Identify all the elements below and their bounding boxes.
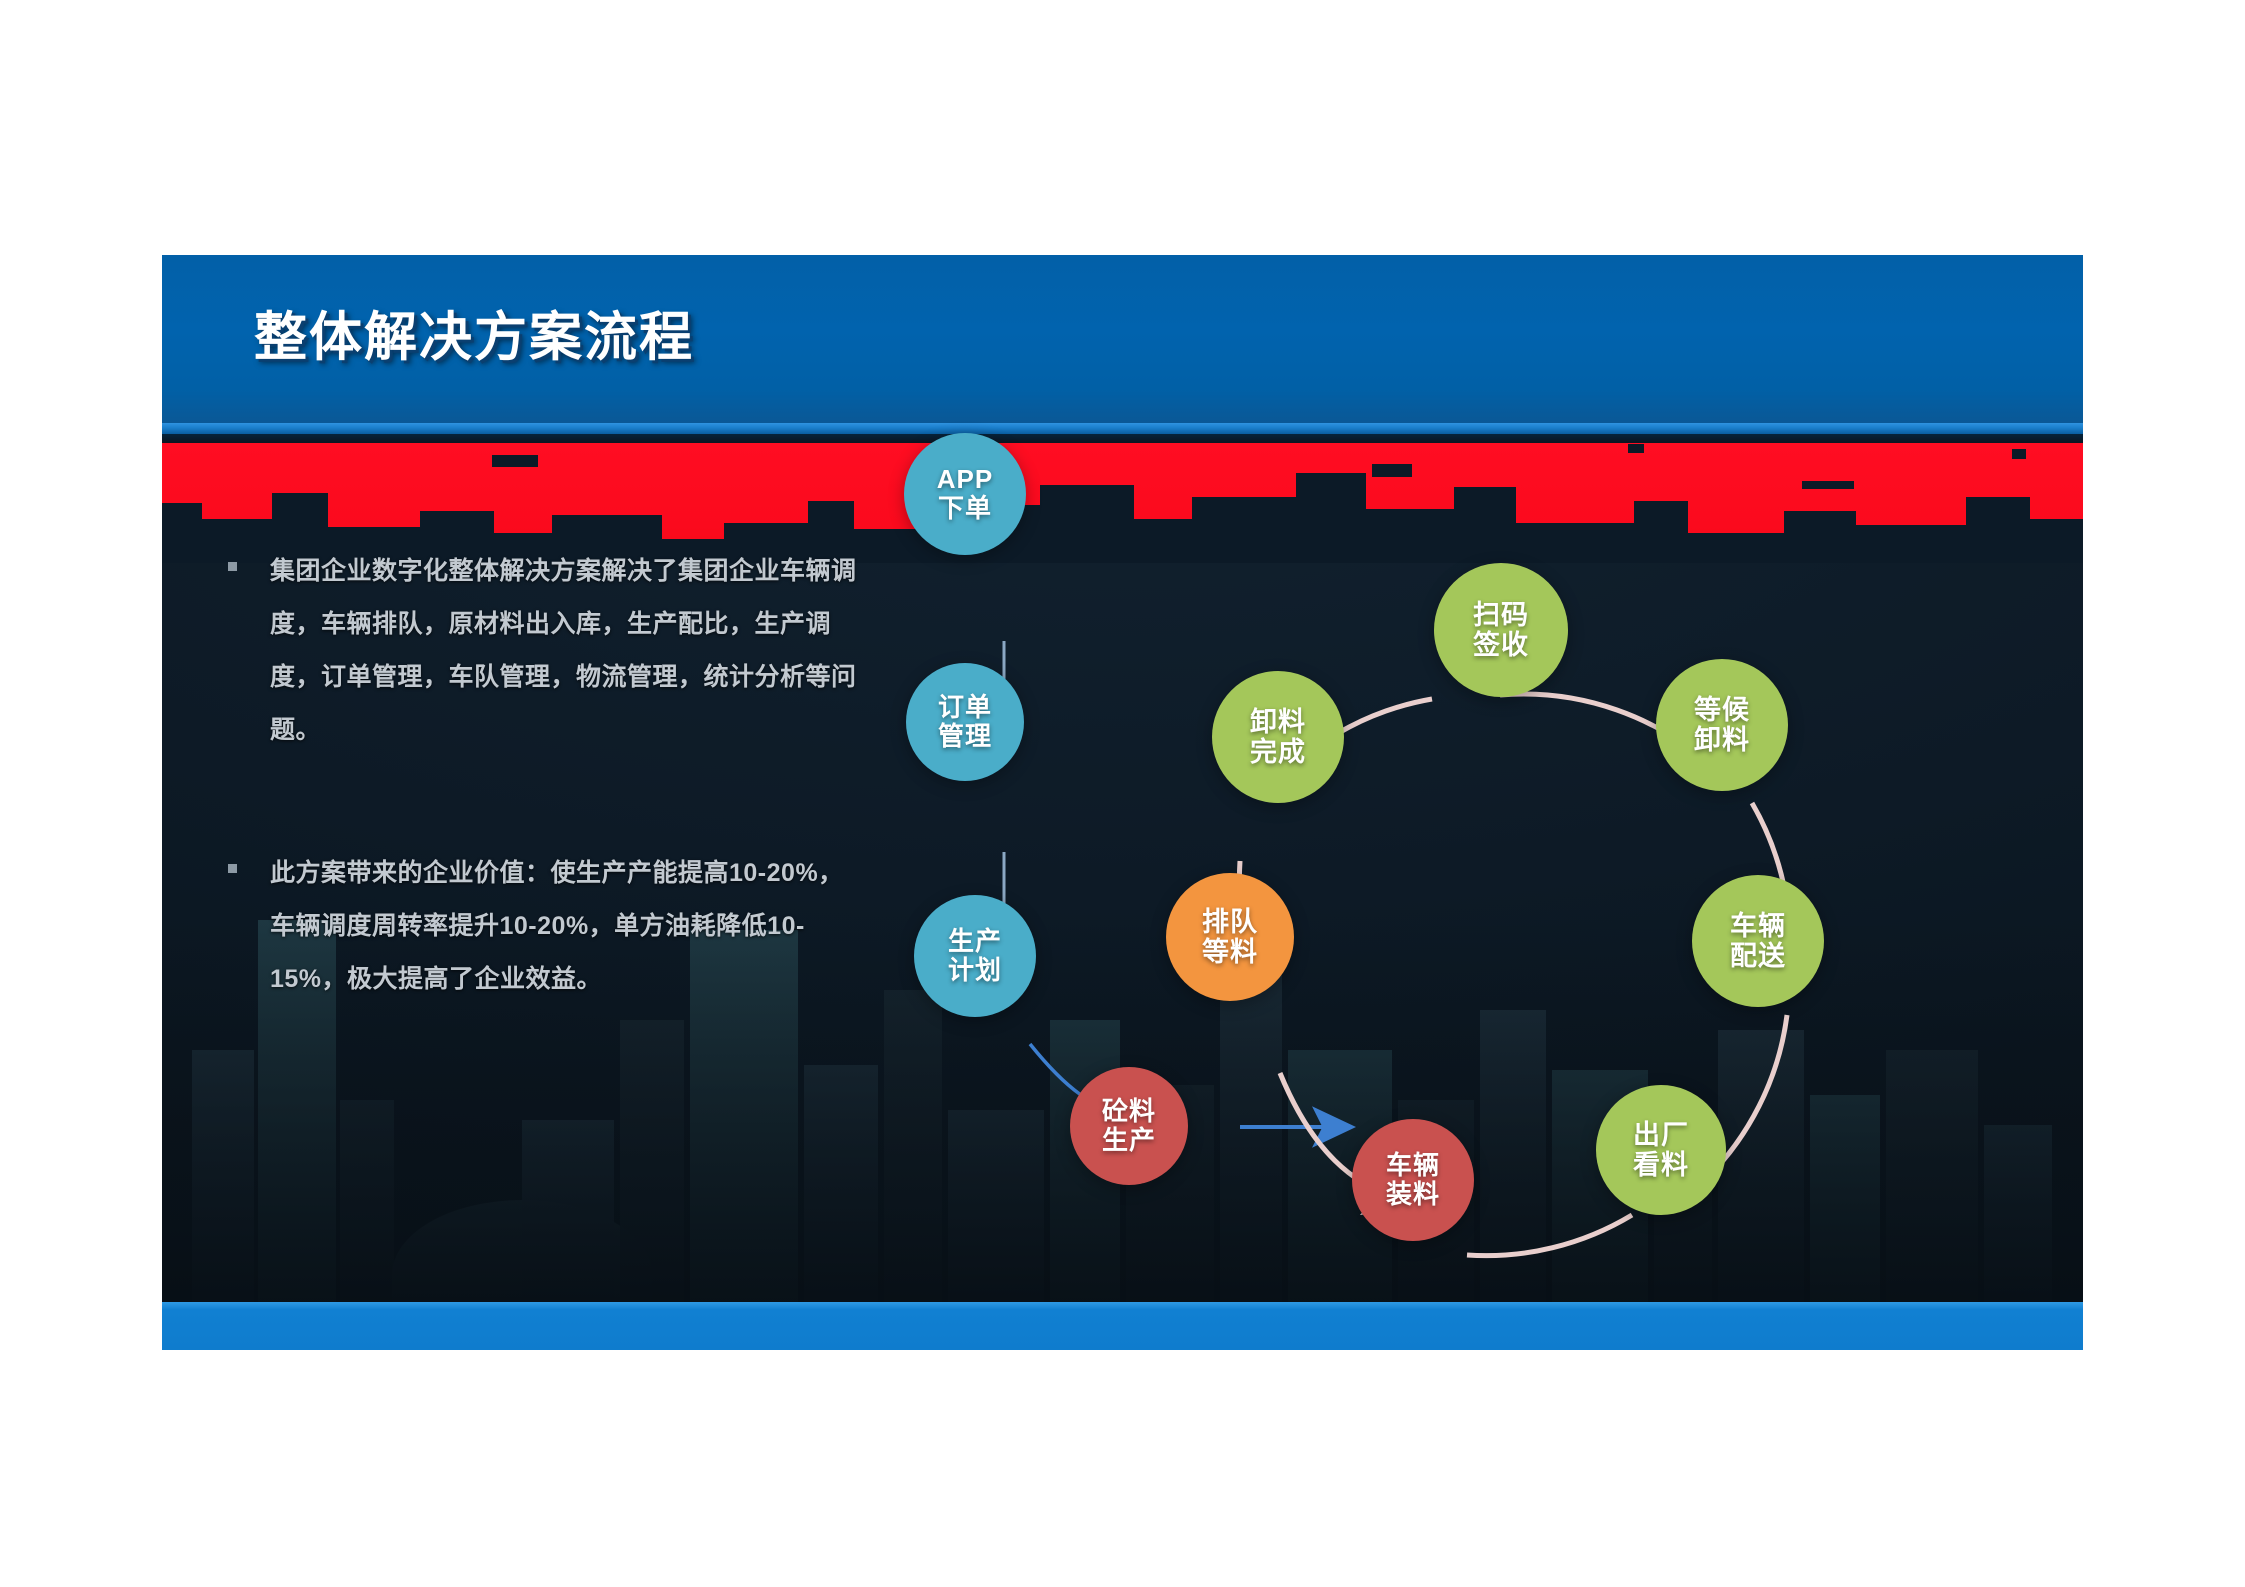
node-factory-check[interactable]: 出厂看料: [1596, 1085, 1726, 1215]
node-label-line: 生产: [1102, 1126, 1156, 1155]
node-label-line: APP: [937, 465, 993, 494]
node-wait-unload[interactable]: 等候卸料: [1656, 659, 1788, 791]
node-label-line: 下单: [937, 494, 993, 523]
node-vehicle-deliver[interactable]: 车辆配送: [1692, 875, 1824, 1007]
node-queue-wait[interactable]: 排队等料: [1166, 873, 1294, 1001]
node-unload-done[interactable]: 卸料完成: [1212, 671, 1344, 803]
node-label-line: 砼料: [1102, 1097, 1156, 1126]
node-label-line: 计划: [948, 956, 1002, 985]
node-label-line: 车辆: [1386, 1151, 1440, 1180]
diagram-connectors: [162, 255, 2083, 1350]
node-label-line: 管理: [938, 722, 992, 751]
process-flow-diagram: APP下单 订单管理 生产计划 砼料生产 车辆装料 出厂看料 车辆配送 等候卸料…: [162, 255, 2083, 1350]
node-label-line: 扫码: [1473, 600, 1529, 630]
node-label-line: 等料: [1202, 937, 1258, 967]
slide: 整体解决方案流程: [162, 255, 2083, 1350]
slide-bottom-bar: [162, 1302, 2083, 1350]
node-production-plan[interactable]: 生产计划: [914, 895, 1036, 1017]
node-label-line: 装料: [1386, 1180, 1440, 1209]
node-order-manage[interactable]: 订单管理: [906, 663, 1024, 781]
node-concrete-production[interactable]: 砼料生产: [1070, 1067, 1188, 1185]
node-label-line: 签收: [1473, 630, 1529, 660]
node-label-line: 等候: [1694, 695, 1750, 725]
node-label-line: 看料: [1633, 1150, 1689, 1180]
node-label-line: 生产: [948, 927, 1002, 956]
node-label-line: 完成: [1250, 737, 1306, 767]
node-label-line: 车辆: [1730, 911, 1786, 941]
node-scan-receive[interactable]: 扫码签收: [1434, 563, 1568, 697]
node-label-line: 卸料: [1694, 725, 1750, 755]
node-app-order[interactable]: APP下单: [904, 433, 1026, 555]
node-label-line: 卸料: [1250, 707, 1306, 737]
node-label-line: 订单: [938, 693, 992, 722]
node-vehicle-load[interactable]: 车辆装料: [1352, 1119, 1474, 1241]
node-label-line: 出厂: [1633, 1120, 1689, 1150]
node-label-line: 配送: [1730, 941, 1786, 971]
node-label-line: 排队: [1202, 907, 1258, 937]
